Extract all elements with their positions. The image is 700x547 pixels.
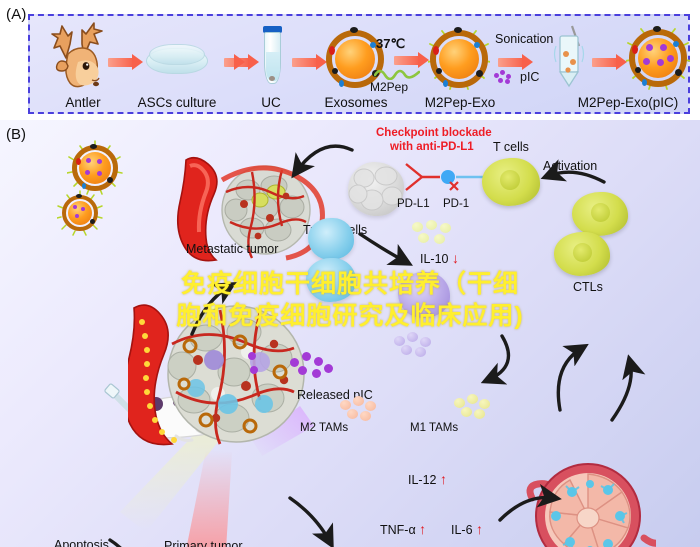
pic-particles-icon: [494, 70, 516, 84]
panel-a-tag: (A): [6, 6, 27, 23]
il-10-cytokine: IL-10 ↓: [420, 250, 459, 266]
il-10-cytokine-dots: [410, 220, 460, 248]
step-label-uc: UC: [246, 95, 296, 110]
primary-tumor-label: Primary tumor: [164, 539, 242, 547]
step-label-antler: Antler: [48, 95, 118, 110]
activation-label: Activation: [543, 159, 597, 173]
exosome-particle-1: [72, 145, 118, 191]
panel-a: (A): [0, 0, 700, 120]
il-6-text: IL-6: [451, 523, 473, 537]
sonicator-tube-icon: [552, 24, 586, 95]
il-12-cytokine-dots: [392, 332, 440, 358]
t-cells-label: T cells: [493, 140, 529, 154]
arrow-m2pepexo-to-sonication: [498, 58, 524, 67]
checkpoint-blockade-label-line2: with anti-PD-L1: [390, 141, 474, 153]
tnf-alpha-cytokine: TNF-α ↑: [380, 521, 426, 537]
ctl-cell-2-nucleus: [573, 243, 592, 262]
released-pic-dots-2: [248, 352, 278, 378]
m1-tams-label: M1 TAMs: [410, 422, 458, 434]
step-label-exosomes: Exosomes: [308, 95, 404, 110]
arrow-uc-to-exo: [292, 58, 318, 67]
checkpoint-blockade-label-line1: Checkpoint blockade: [376, 127, 492, 139]
m2pep-peptide-icon: [374, 66, 420, 80]
panel-b-tag: (B): [6, 126, 26, 143]
ctl-cell-1-nucleus: [591, 203, 610, 222]
lymph-node-icon: [524, 460, 656, 547]
metastatic-tumor-label: Metastatic tumor: [186, 242, 278, 256]
il-6-up-arrow: ↑: [476, 521, 483, 537]
t-cell-nucleus: [500, 170, 520, 190]
tnf-alpha-cytokine-dots: [338, 396, 384, 422]
m2-tam-cell: [398, 272, 450, 318]
macrophage-blue-2: [306, 258, 356, 302]
il-6-cytokine: IL-6 ↑: [451, 521, 483, 537]
arrow-exo-to-m2pepexo: [394, 56, 420, 65]
il-6-cytokine-dots: [452, 394, 498, 420]
step-label-m2pep-exo-pic: M2Pep-Exo(pIC): [558, 95, 698, 110]
il-12-up-arrow: ↑: [440, 471, 447, 487]
released-pic-dots: [290, 352, 338, 380]
deer-icon: [44, 22, 120, 88]
il-10-text: IL-10: [420, 252, 449, 266]
pic-annotation: pIC: [520, 70, 539, 84]
ctls-label: CTLs: [573, 280, 603, 294]
m2pep-annotation: M2Pep: [370, 80, 408, 94]
il-10-down-arrow: ↓: [452, 250, 459, 266]
il-12-cytokine: IL-12 ↑: [408, 471, 447, 487]
arrow-antler-to-asc: [108, 58, 134, 67]
apoptosis-label: Apoptosis: [54, 538, 109, 547]
temperature-annotation: 37℃: [376, 36, 405, 52]
loaded-exosome-icon: [626, 26, 690, 90]
exosome-particle-2: [62, 195, 98, 231]
il-12-text: IL-12: [408, 473, 437, 487]
scientific-figure: (A): [0, 0, 700, 547]
peptide-exosome-icon: [428, 28, 490, 90]
macrophage-blue-1: [308, 218, 354, 260]
step-label-m2pep-exo: M2Pep-Exo: [406, 95, 514, 110]
step-label-asc: ASCs culture: [122, 95, 232, 110]
pd-1-label: PD-1: [443, 198, 469, 210]
pd-l1-label: PD-L1: [397, 198, 430, 210]
sonication-annotation: Sonication: [495, 32, 553, 46]
tnf-alpha-text: TNF-α: [380, 523, 416, 537]
panel-b: (B): [0, 120, 700, 547]
tumor-cell-texture: [348, 162, 404, 216]
watermark-line-2: 胞和免疫细胞研究及临床应用): [0, 300, 700, 332]
tnf-alpha-up-arrow: ↑: [419, 521, 426, 537]
arrow-sonication-to-final: [592, 58, 618, 67]
